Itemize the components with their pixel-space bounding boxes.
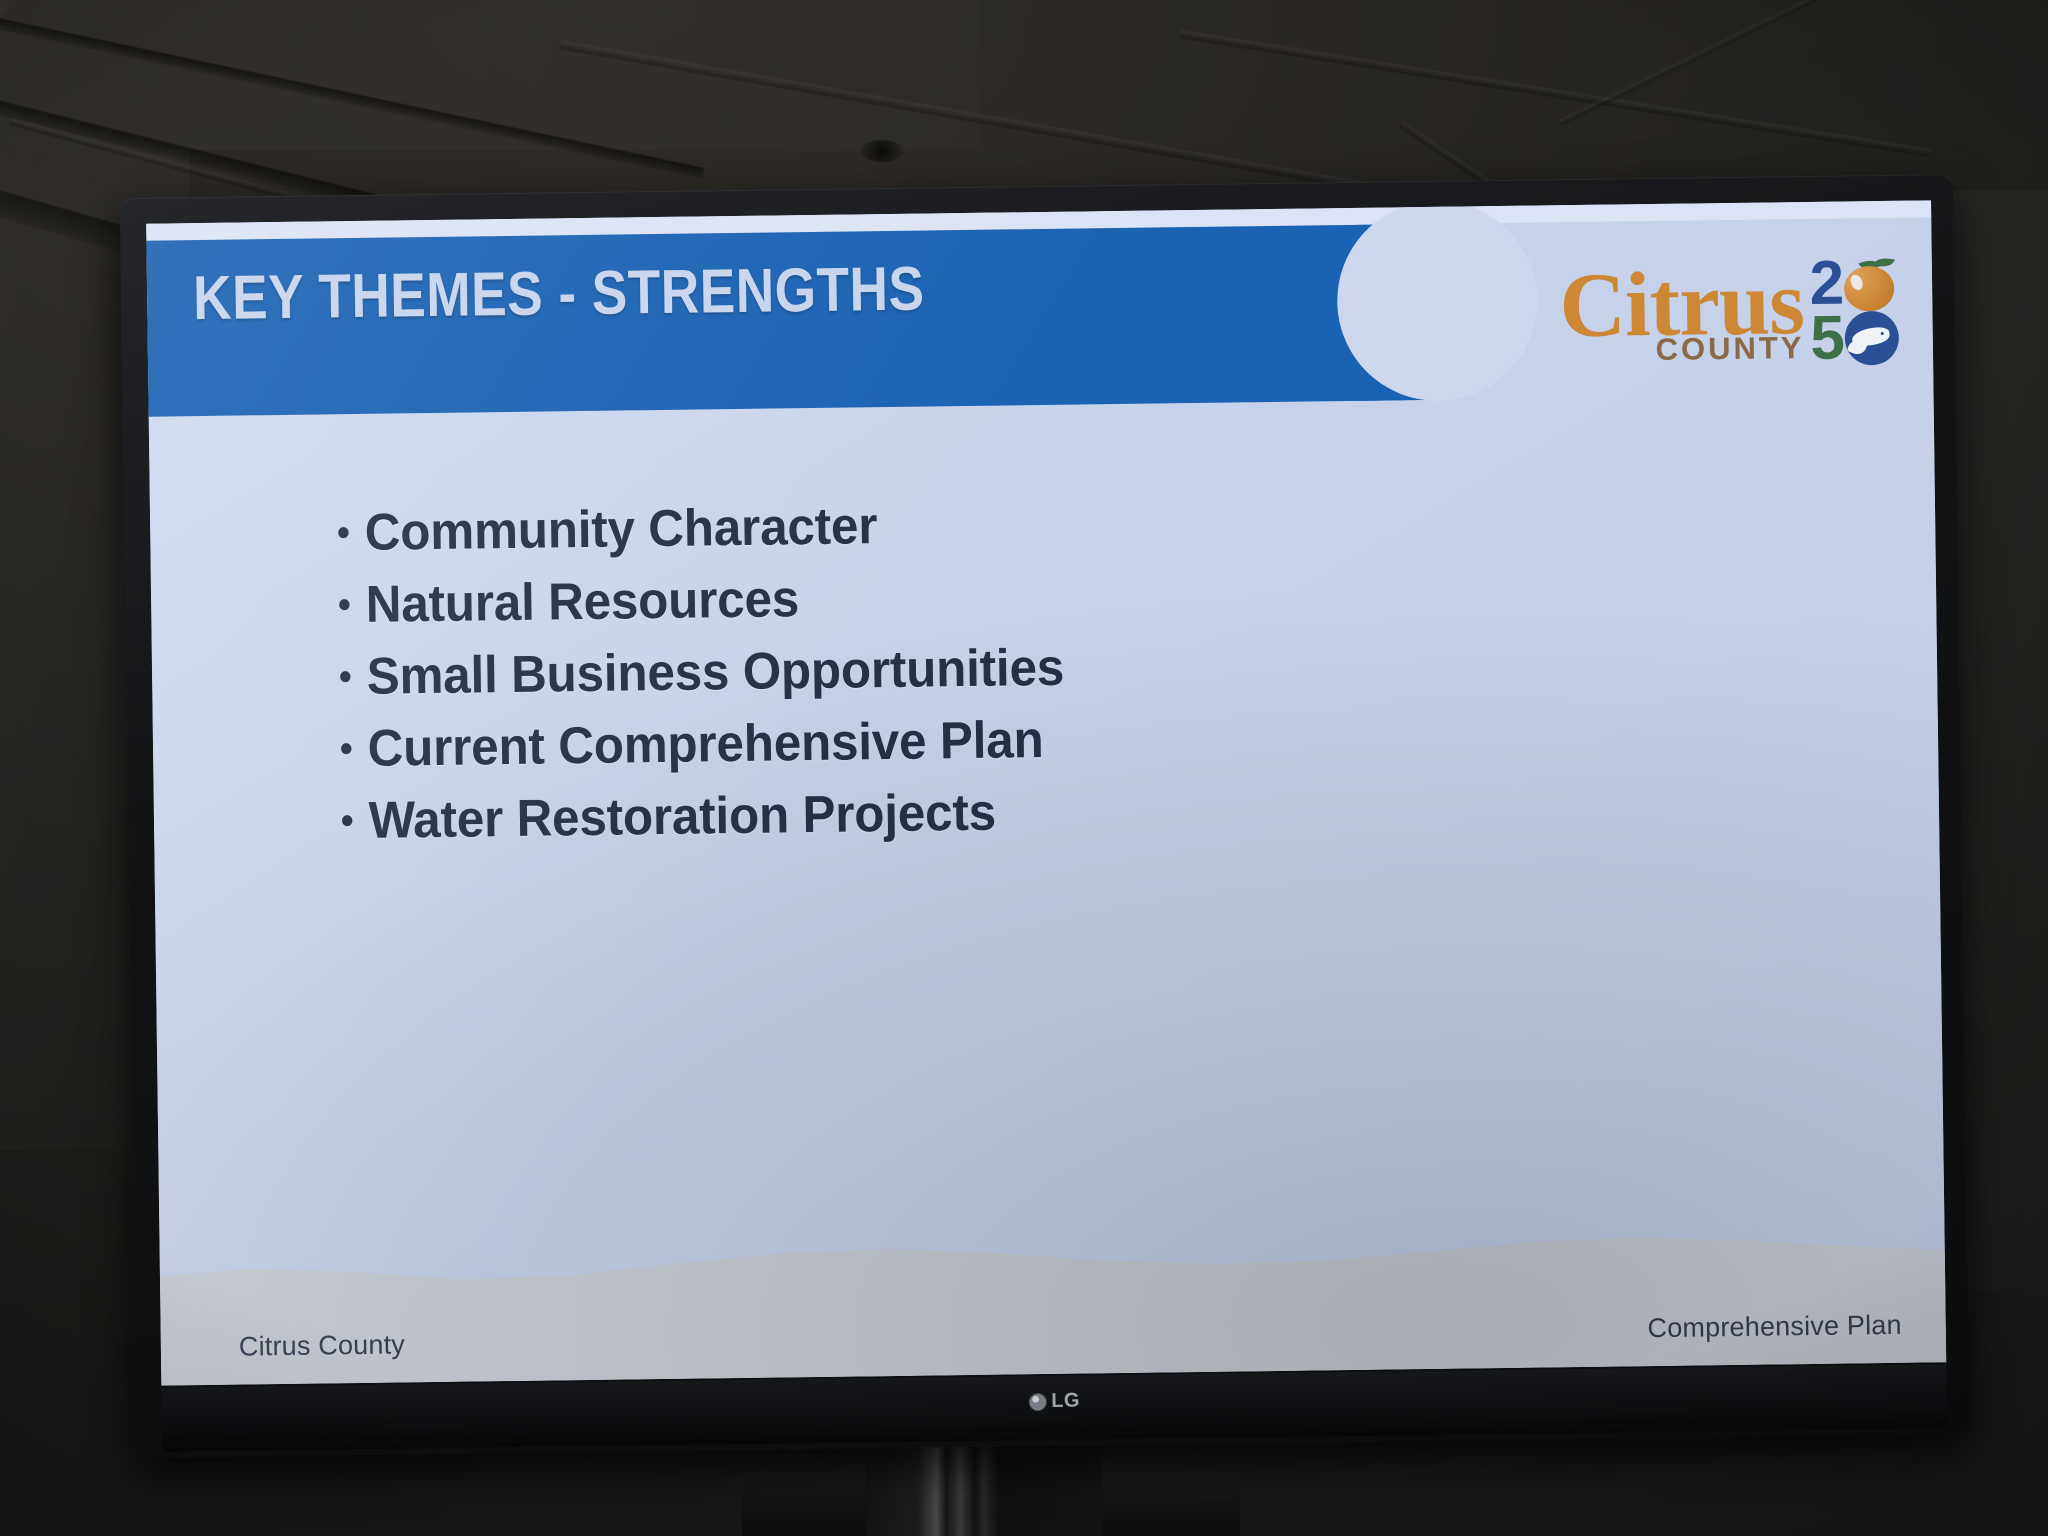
list-item: Small Business Opportunities: [340, 641, 1065, 706]
lg-face-icon: [1028, 1393, 1046, 1411]
lg-brand-label: LG: [1051, 1390, 1080, 1413]
bullet-label: Community Character: [364, 499, 877, 561]
list-item: Community Character: [338, 497, 1063, 562]
slide-bullet-list: Community Character Natural Resources Sm…: [338, 496, 1105, 849]
bullet-dot-icon: [341, 743, 352, 754]
bullet-dot-icon: [340, 671, 351, 682]
logo-wordmark-group: Citrus COUNTY: [1559, 256, 1805, 371]
presentation-slide: KEY THEMES - STRENGTHS Citrus COUNTY 2 5: [146, 200, 1946, 1385]
manatee-icon: [1844, 311, 1899, 366]
slide-title: KEY THEMES - STRENGTHS: [193, 259, 925, 331]
list-item: Water Restoration Projects: [342, 785, 1067, 850]
orange-fruit-body: [1844, 266, 1895, 312]
bullet-dot-icon: [338, 527, 349, 538]
slide-header-curve-cutout: [1336, 200, 1539, 402]
lg-brand-logo: LG: [1028, 1390, 1080, 1414]
list-item: Current Comprehensive Plan: [341, 713, 1066, 778]
logo-digit-5: 5: [1810, 311, 1845, 366]
citrus-county-logo: Citrus COUNTY 2 5: [1559, 247, 1900, 379]
footer-left-label: Citrus County: [239, 1329, 406, 1362]
monitor: LG KEY THEMES - STRENGTHS Citrus COUNTY …: [120, 174, 1969, 1458]
manatee-body: [1851, 326, 1891, 348]
bullet-dot-icon: [339, 599, 350, 610]
logo-year-2050: 2 5: [1809, 256, 1899, 366]
ceiling-light-fixture: [860, 140, 904, 162]
bullet-label: Natural Resources: [365, 572, 799, 633]
logo-subtitle-county: COUNTY: [1655, 330, 1804, 368]
ceiling-beam: [1179, 30, 1931, 157]
footer-right-label: Comprehensive Plan: [1647, 1310, 1902, 1344]
orange-fruit-icon: [1844, 257, 1899, 312]
slide-footer-wave: [159, 1214, 1946, 1385]
bullet-label: Current Comprehensive Plan: [367, 713, 1044, 777]
bullet-label: Water Restoration Projects: [368, 786, 996, 849]
bullet-dot-icon: [342, 815, 353, 826]
bullet-label: Small Business Opportunities: [366, 641, 1064, 705]
monitor-screen: KEY THEMES - STRENGTHS Citrus COUNTY 2 5: [146, 200, 1946, 1385]
list-item: Natural Resources: [339, 569, 1064, 634]
monitor-stand-neck: [866, 1438, 1102, 1536]
